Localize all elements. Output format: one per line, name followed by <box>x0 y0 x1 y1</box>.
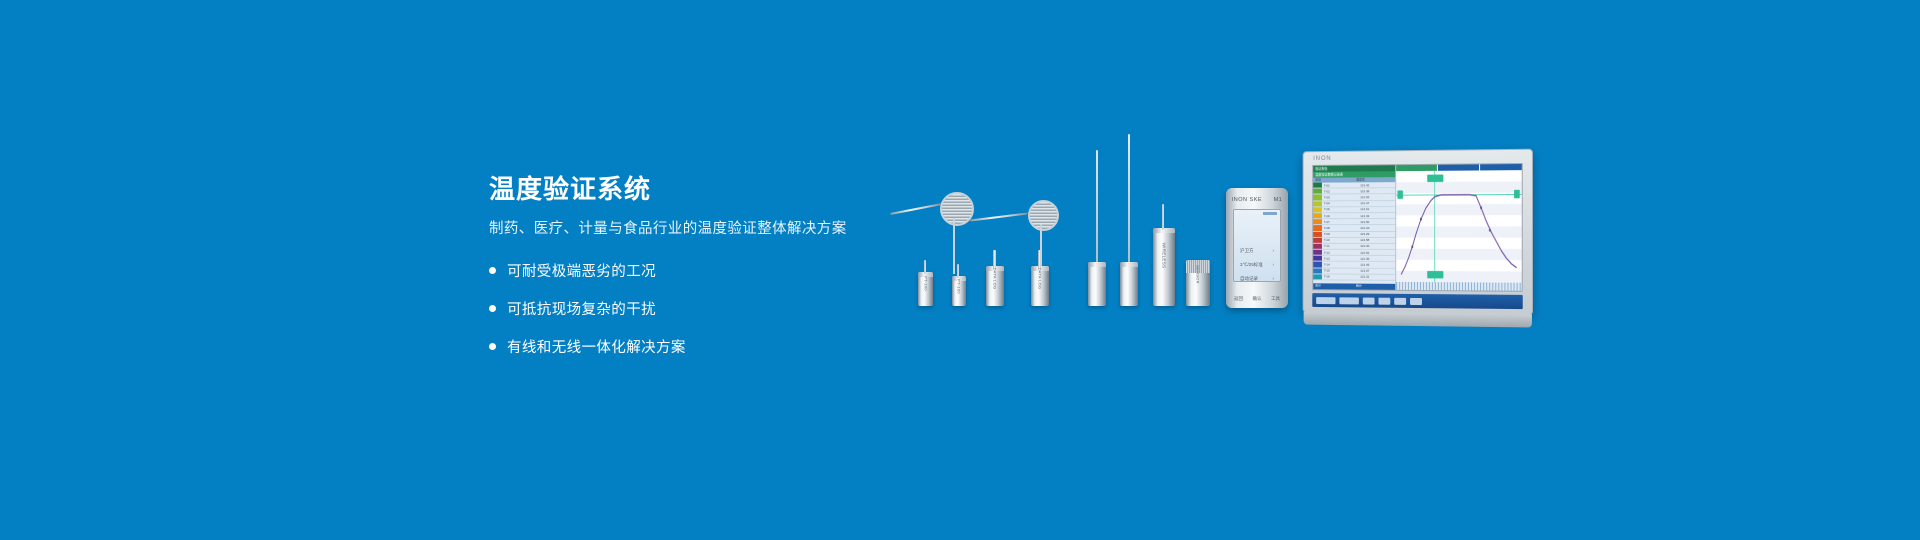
toolbar-button[interactable] <box>1339 297 1358 304</box>
software-toolbar[interactable] <box>1312 293 1522 309</box>
data-logger <box>1088 262 1106 306</box>
menu-label: 3℃/25标准 <box>1240 262 1263 268</box>
software-window: 验证报告 温度验证数据记录表 通道 温度值 T-01121.42T-02121.… <box>1312 163 1522 292</box>
feature-label: 有线和无线一体化解决方案 <box>507 336 686 357</box>
cell-value: 121.42 <box>1358 183 1395 187</box>
footer-total: 合计 <box>1313 283 1354 289</box>
reader-screen: 沪卫方 › 3℃/25标准 › 自动记录 › <box>1233 209 1281 282</box>
cell-channel: T-05 <box>1322 208 1358 212</box>
reader-brand: INON SKE M1 <box>1226 197 1288 203</box>
chevron-right-icon: › <box>1273 248 1275 254</box>
probe-wire <box>953 218 955 274</box>
reader-menu-row[interactable]: 3℃/25标准 › <box>1240 262 1274 268</box>
reader-menu-row[interactable]: 沪卫方 › <box>1240 248 1274 254</box>
feature-list: 可耐受极端恶劣的工况 可抵抗现场复杂的干扰 有线和无线一体化解决方案 <box>489 260 959 357</box>
table-body: T-01121.42T-02121.38T-03121.55T-04121.47… <box>1313 182 1395 284</box>
hero-copy: 温度验证系统 制药、医疗、计量与食品行业的温度验证整体解决方案 可耐受极端恶劣的… <box>489 175 959 374</box>
legend-swatch <box>1313 189 1322 194</box>
chart-x-axis <box>1396 282 1522 291</box>
toolbar-button[interactable] <box>1410 297 1422 304</box>
temperature-chart[interactable] <box>1395 164 1522 291</box>
cell-channel: T-07 <box>1322 220 1358 224</box>
legend-swatch <box>1313 195 1322 200</box>
legend-swatch <box>1313 268 1322 273</box>
logger-antenna <box>1162 204 1164 230</box>
cell-value: 121.38 <box>1358 189 1395 193</box>
cell-channel: T-16 <box>1322 275 1358 279</box>
key-confirm[interactable]: 确认 <box>1253 296 1262 302</box>
logger-cap <box>1153 228 1175 233</box>
bullet-dot-icon <box>489 305 496 312</box>
cell-value: 121.55 <box>1358 195 1395 199</box>
cell-channel: T-02 <box>1322 189 1358 193</box>
data-logger: PT-100 <box>918 272 933 306</box>
data-logger: DATA LOG <box>1031 266 1049 306</box>
brand-name: INON SKE <box>1232 197 1262 203</box>
long-needle-probe-icon <box>1128 134 1130 278</box>
cell-value: 121.44 <box>1358 226 1395 230</box>
cell-value: 121.40 <box>1358 244 1395 248</box>
monitor-stand <box>1304 312 1532 328</box>
logger-stem <box>1038 250 1041 268</box>
validation-data-table[interactable]: 验证报告 温度验证数据记录表 通道 温度值 T-01121.42T-02121.… <box>1313 165 1395 290</box>
toolbar-button[interactable] <box>1394 297 1406 304</box>
wireless-logger-large: WIRELESS <box>1153 228 1175 306</box>
cell-channel: T-08 <box>1322 226 1358 230</box>
model-name: M1 <box>1274 197 1283 203</box>
legend-swatch <box>1313 256 1322 261</box>
legend-swatch <box>1313 201 1322 206</box>
cell-channel: T-15 <box>1322 269 1358 273</box>
sensor-module: SENSOR <box>1186 260 1210 306</box>
page-title: 温度验证系统 <box>489 175 959 204</box>
cable-coil-icon <box>940 192 974 226</box>
hero-banner: 温度验证系统 制药、医疗、计量与食品行业的温度验证整体解决方案 可耐受极端恶劣的… <box>0 0 1920 540</box>
data-logger: DATA LOG <box>986 266 1004 306</box>
logger-cap <box>1120 262 1138 267</box>
legend-swatch <box>1313 250 1322 255</box>
cell-channel: T-09 <box>1322 232 1358 236</box>
legend-swatch <box>1313 225 1322 230</box>
cell-channel: T-13 <box>1322 257 1358 261</box>
monitor-brand: INON <box>1313 156 1331 162</box>
legend-swatch <box>1313 219 1322 224</box>
logger-label: SENSOR <box>1196 265 1201 284</box>
toolbar-button[interactable] <box>1316 297 1335 304</box>
chart-svg <box>1396 170 1522 283</box>
cell-value: 121.36 <box>1358 257 1395 261</box>
logger-label: PT-100 <box>957 279 962 294</box>
legend-swatch <box>1313 262 1322 267</box>
legend-swatch <box>1313 213 1322 218</box>
legend-swatch <box>1313 274 1322 279</box>
product-photo-group: PT-100 PT-100 DATA LOG DATA LOG WIRELESS <box>900 130 1520 380</box>
logger-label: DATA LOG <box>1038 268 1043 290</box>
cell-channel: T-11 <box>1322 244 1358 248</box>
menu-label: 自动记录 <box>1240 276 1258 282</box>
data-logger <box>1120 262 1138 306</box>
cell-channel: T-01 <box>1322 183 1358 187</box>
reader-menu-row[interactable]: 自动记录 › <box>1240 276 1274 282</box>
cell-value: 121.61 <box>1358 207 1395 211</box>
logger-label: WIRELESS <box>1162 243 1167 269</box>
legend-swatch <box>1313 183 1322 188</box>
cell-value: 121.29 <box>1358 232 1395 236</box>
cell-channel: T-14 <box>1322 263 1358 267</box>
cell-channel: T-06 <box>1322 214 1358 218</box>
toolbar-button[interactable] <box>1378 297 1390 304</box>
list-item: 可抵抗现场复杂的干扰 <box>489 298 959 319</box>
feature-label: 可抵抗现场复杂的干扰 <box>507 298 656 319</box>
data-logger: PT-100 <box>952 276 966 306</box>
long-needle-probe-icon <box>1096 150 1098 278</box>
key-back[interactable]: 返回 <box>1234 296 1243 302</box>
cell-channel: T-12 <box>1322 250 1358 254</box>
cell-value: 121.52 <box>1358 251 1395 255</box>
feature-label: 可耐受极端恶劣的工况 <box>507 260 656 281</box>
probe-needle-icon <box>970 212 1028 221</box>
legend-swatch <box>1313 207 1322 212</box>
cell-value: 121.31 <box>1358 275 1395 279</box>
legend-swatch <box>1313 238 1322 243</box>
handheld-reader[interactable]: INON SKE M1 沪卫方 › 3℃/25标准 › 自动记录 › <box>1226 188 1288 308</box>
cell-channel: T-03 <box>1322 195 1358 199</box>
table-footer: 合计 统计 <box>1313 283 1395 290</box>
list-item: 有线和无线一体化解决方案 <box>489 336 959 357</box>
key-tools[interactable]: 工具 <box>1271 296 1280 302</box>
reader-status-bar <box>1263 212 1277 215</box>
cell-channel: T-10 <box>1322 238 1358 242</box>
legend-swatch <box>1313 244 1322 249</box>
menu-label: 沪卫方 <box>1240 248 1254 254</box>
logger-stem <box>993 250 996 268</box>
legend-swatch <box>1313 232 1322 237</box>
cell-value: 121.57 <box>1358 269 1395 273</box>
bullet-dot-icon <box>489 343 496 350</box>
cell-value: 121.33 <box>1358 214 1395 218</box>
bullet-dot-icon <box>489 267 496 274</box>
list-item: 可耐受极端恶劣的工况 <box>489 260 959 281</box>
reader-keypad[interactable]: 返回 确认 工具 <box>1234 296 1280 302</box>
page-subtitle: 制药、医疗、计量与食品行业的温度验证整体解决方案 <box>489 220 959 239</box>
chevron-right-icon: › <box>1273 276 1275 282</box>
cell-value: 121.50 <box>1358 220 1395 224</box>
logger-label: PT-100 <box>923 276 928 291</box>
logger-label: DATA LOG <box>993 268 998 290</box>
cell-channel: T-04 <box>1322 201 1358 205</box>
monitor-display: INON 验证报告 温度验证数据记录表 通道 温度值 T-01121.42T-0… <box>1303 149 1533 316</box>
cell-value: 121.49 <box>1358 263 1395 267</box>
logger-cap <box>1088 262 1106 267</box>
cable-coil-icon <box>1028 200 1059 231</box>
cell-value: 121.58 <box>1358 238 1395 242</box>
toolbar-button[interactable] <box>1363 297 1375 304</box>
table-row[interactable]: T-16121.31 <box>1313 274 1395 281</box>
footer-stats: 统计 <box>1354 284 1395 290</box>
cell-value: 121.47 <box>1358 201 1395 205</box>
chevron-right-icon: › <box>1273 262 1275 268</box>
